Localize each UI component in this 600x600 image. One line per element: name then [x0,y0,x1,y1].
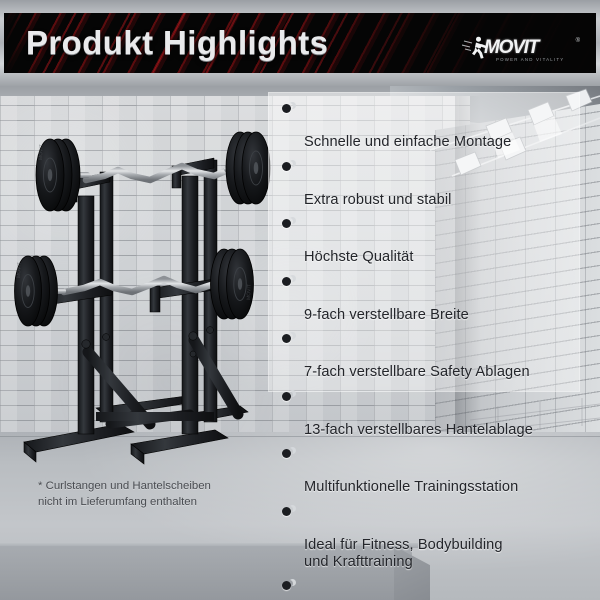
brand-logo: MOVIT ® POWER AND VITALITY [462,35,578,71]
crescent-bullet-icon [282,581,291,590]
product-highlight-image: MOVIT MOVIT MOVIT * Curlstangen und Hant… [0,0,600,600]
list-item: Extra robust und stabil [282,158,582,209]
crescent-bullet-icon [282,449,291,458]
weight-plates-lower-right [211,249,254,319]
brand-tagline: POWER AND VITALITY [496,57,564,62]
list-item: 9-fach verstellbare Breite [282,273,582,324]
list-item-label: Höchste Qualität [304,249,414,265]
brand-name: MOVIT [484,37,538,59]
header-banner-frame: Produkt Highlights [0,0,600,86]
list-item: 7-fach verstellbare Safety Ablagen [282,330,582,381]
list-item: Multifunktionelle Trainingsstation [282,445,582,496]
crescent-bullet-icon [282,507,291,516]
list-item-label: Extra robust und stabil [304,192,452,208]
crescent-bullet-icon [282,219,291,228]
crescent-bullet-icon [282,392,291,401]
header-banner: Produkt Highlights [4,13,596,73]
list-item-label: 13-fach verstellbares Hantelablage [304,422,533,438]
page-title: Produkt Highlights [26,24,328,62]
list-item: 13-fach verstellbares Hantelablage [282,388,582,439]
list-item: Schnelle und einfache Montage [282,100,582,151]
list-item: Höchste Qualität [282,215,582,266]
list-item: Ideal für Fitness, Bodybuilding und Kraf… [282,503,582,571]
crescent-bullet-icon [282,334,291,343]
svg-text:MOVIT: MOVIT [16,262,23,278]
crescent-bullet-icon [282,104,291,113]
weight-plates-upper-right [226,132,270,204]
list-item-label: 9-fach verstellbare Breite [304,307,469,323]
crescent-bullet-icon [282,277,291,286]
list-item-label: Multifunktionelle Trainingsstation [304,479,518,495]
feature-list: Schnelle und einfache Montage Extra robu… [282,100,582,600]
registered-mark: ® [576,38,580,44]
list-item-label: Schnelle und einfache Montage [304,134,511,150]
list-item-label: Ideal für Fitness, Bodybuilding und Kraf… [304,537,503,570]
list-item-label: 7-fach verstellbare Safety Ablagen [304,364,530,380]
list-item: Integrierte Dip-Station [282,577,582,600]
svg-text:MOVIT: MOVIT [246,284,253,300]
crescent-bullet-icon [282,162,291,171]
svg-text:MOVIT: MOVIT [38,144,45,160]
